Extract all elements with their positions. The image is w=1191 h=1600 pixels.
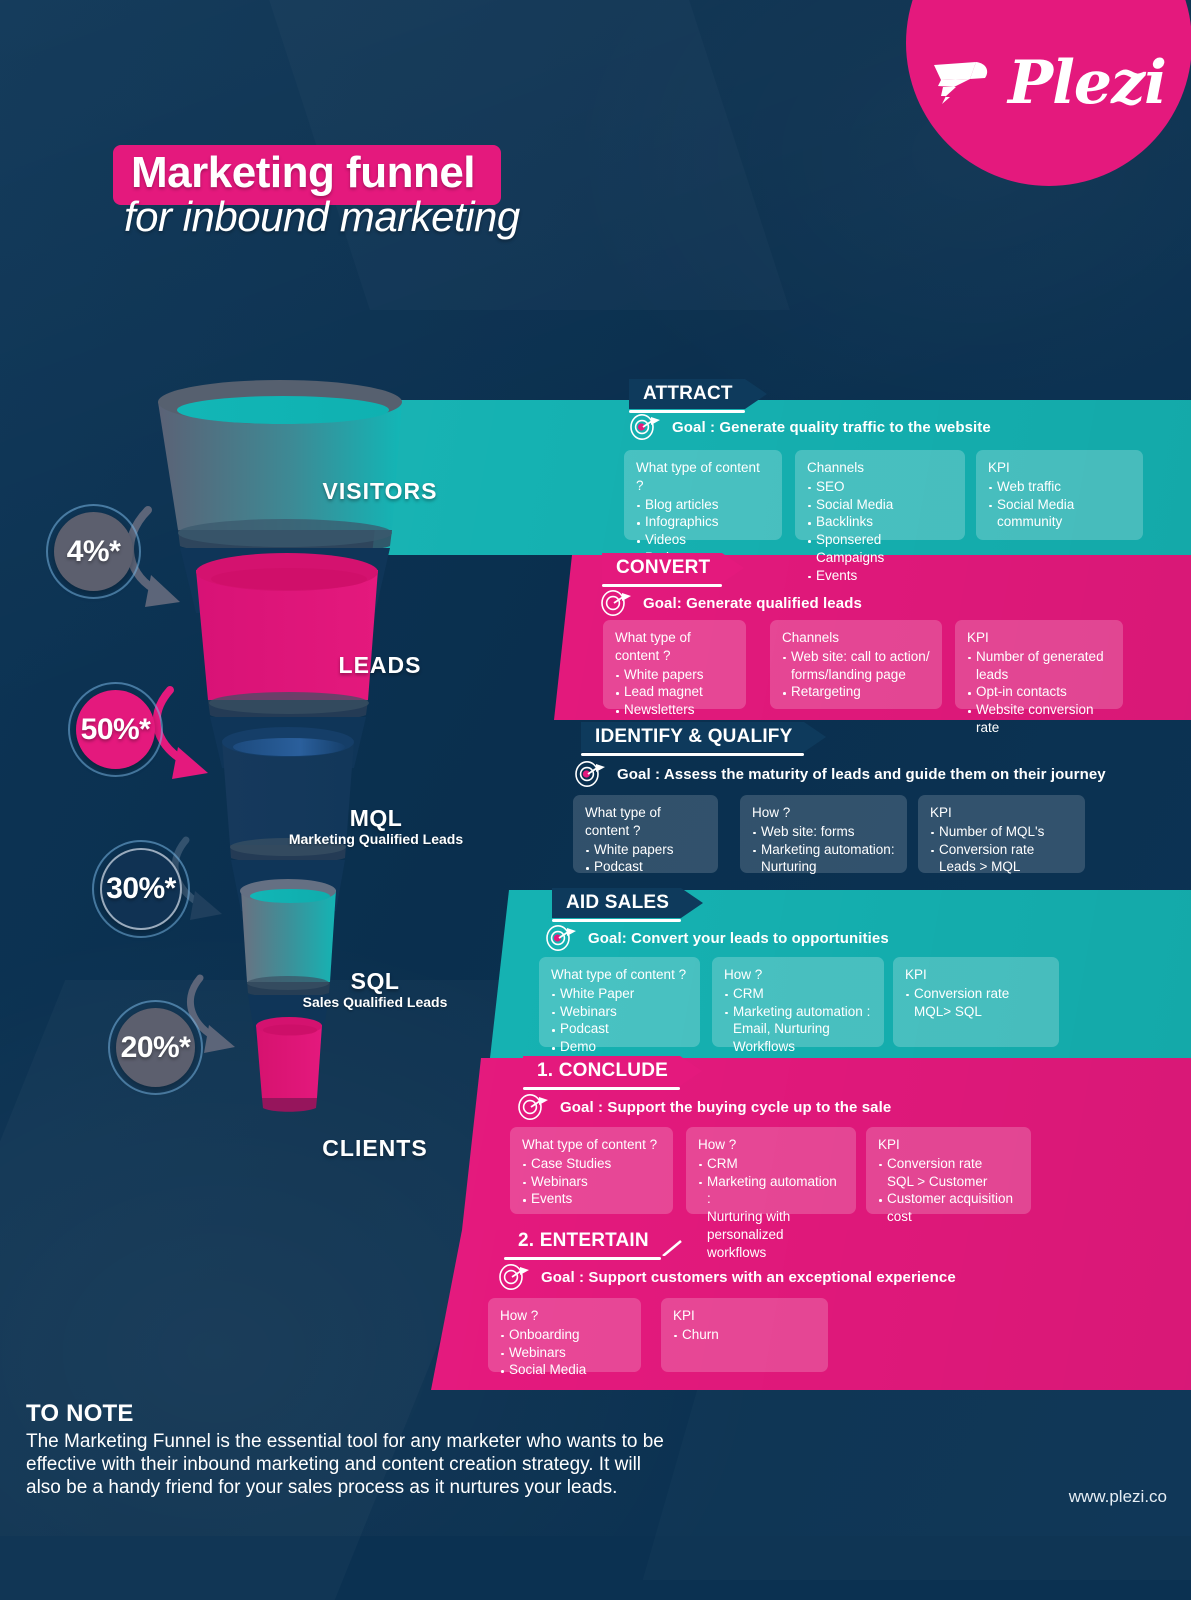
conversion-badge-leads-mql: 50%* bbox=[68, 682, 163, 777]
card-aid-sales-how: How ? CRMMarketing automation : Email, N… bbox=[712, 957, 884, 1047]
tab-chevron-icon bbox=[681, 888, 703, 918]
funnel-stage-mql: MQL Marketing Qualified Leads bbox=[200, 805, 552, 847]
tab-convert-label: CONVERT bbox=[616, 557, 710, 579]
card-entertain-how: How ? OnboardingWebinarsSocial Media bbox=[488, 1298, 641, 1372]
brand-name: Plezi bbox=[1008, 53, 1166, 113]
tab-convert[interactable]: CONVERT bbox=[602, 553, 744, 583]
card-list-item: Number of MQL's bbox=[930, 823, 1073, 841]
card-list-item: Case Studies bbox=[522, 1155, 661, 1173]
tab-conclude-label: 1. CONCLUDE bbox=[537, 1060, 668, 1082]
card-list: Number of MQL'sConversion rate Leads > M… bbox=[930, 823, 1073, 876]
card-list: CRMMarketing automation : Nurturing with… bbox=[698, 1155, 844, 1262]
card-list-item: CRM bbox=[698, 1155, 844, 1173]
to-note-title: TO NOTE bbox=[26, 1400, 666, 1428]
card-list-item: Social Media bbox=[500, 1361, 629, 1379]
to-note-block: TO NOTE The Marketing Funnel is the esse… bbox=[26, 1400, 666, 1500]
tab-attract[interactable]: ATTRACT bbox=[629, 379, 767, 409]
card-conclude-how: How ? CRMMarketing automation : Nurturin… bbox=[686, 1127, 856, 1214]
card-list-item: Webinars bbox=[551, 1003, 688, 1021]
card-title: KPI bbox=[988, 459, 1131, 477]
target-goal-icon bbox=[575, 761, 607, 787]
conversion-value: 30%* bbox=[106, 872, 176, 906]
card-title: How ? bbox=[752, 804, 895, 822]
card-list-item: White papers bbox=[615, 666, 734, 684]
card-list-item: Blog articles bbox=[636, 496, 770, 514]
card-convert-content: What type of content ? White papersLead … bbox=[603, 620, 746, 709]
goal-identify-qualify: Goal : Assess the maturity of leads and … bbox=[575, 761, 1106, 787]
badge-disc: 4%* bbox=[54, 512, 133, 591]
tab-aid-sales[interactable]: AID SALES bbox=[552, 888, 703, 918]
card-convert-kpi: KPI Number of generated leadsOpt-in cont… bbox=[955, 620, 1123, 709]
card-title: Channels bbox=[782, 629, 930, 647]
card-list-item: Web traffic bbox=[988, 478, 1131, 496]
goal-conclude-text: Goal : Support the buying cycle up to th… bbox=[560, 1099, 891, 1116]
tab-attract-label: ATTRACT bbox=[643, 383, 733, 405]
card-title: How ? bbox=[724, 966, 872, 984]
card-title: How ? bbox=[500, 1307, 629, 1325]
target-goal-icon bbox=[630, 414, 662, 440]
card-list-item: Marketing automation : Nurturing with pe… bbox=[698, 1173, 844, 1262]
card-list-item: Marketing automation : Email, Nurturing … bbox=[724, 1003, 872, 1056]
card-list: Web trafficSocial Media community bbox=[988, 478, 1131, 531]
tab-chevron-icon bbox=[804, 722, 826, 752]
card-list: White PaperWebinarsPodcastDemo bbox=[551, 985, 688, 1056]
conversion-value: 20%* bbox=[121, 1031, 191, 1065]
card-list-item: Number of generated leads bbox=[967, 648, 1111, 684]
page-subtitle: for inbound marketing bbox=[124, 193, 520, 241]
card-list-item: Backlinks bbox=[807, 513, 953, 531]
goal-entertain-text: Goal : Support customers with an excepti… bbox=[541, 1269, 956, 1286]
card-title: KPI bbox=[673, 1307, 816, 1325]
card-title: What type of content ? bbox=[522, 1136, 661, 1154]
card-list-item: Opt-in contacts bbox=[967, 683, 1111, 701]
funnel-stage-sql: SQL Sales Qualified Leads bbox=[215, 968, 535, 1010]
goal-identify-qualify-text: Goal : Assess the maturity of leads and … bbox=[617, 766, 1106, 783]
plezi-bird-icon bbox=[930, 53, 1002, 113]
card-list-item: Conversion rate Leads > MQL bbox=[930, 841, 1073, 877]
target-goal-icon bbox=[518, 1094, 550, 1120]
card-title: KPI bbox=[878, 1136, 1019, 1154]
card-title: What type of content ? bbox=[636, 459, 770, 495]
funnel-stage-label: MQL bbox=[200, 805, 552, 832]
card-list: Case StudiesWebinarsEvents bbox=[522, 1155, 661, 1208]
card-conclude-kpi: KPI Conversion rate SQL > CustomerCustom… bbox=[866, 1127, 1031, 1214]
card-list-item: Retargeting bbox=[782, 683, 930, 701]
card-list-item: Website conversion rate bbox=[967, 701, 1111, 737]
card-list: CRMMarketing automation : Email, Nurturi… bbox=[724, 985, 872, 1056]
tab-chevron-icon bbox=[722, 553, 744, 583]
card-list-item: Infographics bbox=[636, 513, 770, 531]
funnel-stage-clients: CLIENTS bbox=[230, 1135, 520, 1162]
card-title: KPI bbox=[930, 804, 1073, 822]
card-list-item: Conversion rate MQL> SQL bbox=[905, 985, 1047, 1021]
card-aid-sales-kpi: KPI Conversion rate MQL> SQL bbox=[893, 957, 1059, 1047]
card-identify-content: What type of content ? White papersPodca… bbox=[573, 795, 718, 873]
badge-disc: 20%* bbox=[116, 1008, 195, 1087]
conversion-badge-mql-sql: 30%* bbox=[92, 840, 190, 938]
tab-identify-qualify[interactable]: IDENTIFY & QUALIFY bbox=[581, 722, 826, 752]
page-title-text: Marketing funnel bbox=[131, 148, 475, 197]
funnel-stage-leads: LEADS bbox=[190, 652, 570, 679]
card-convert-channels: Channels Web site: call to action/ forms… bbox=[770, 620, 942, 709]
card-list: White papersLead magnetNewsletters bbox=[615, 666, 734, 719]
card-list: Conversion rate SQL > CustomerCustomer a… bbox=[878, 1155, 1019, 1226]
card-list-item: Webinars bbox=[522, 1173, 661, 1191]
card-list: SEOSocial MediaBacklinksSponsered Campai… bbox=[807, 478, 953, 585]
funnel-stage-sublabel: Marketing Qualified Leads bbox=[200, 831, 552, 847]
card-attract-channels: Channels SEOSocial MediaBacklinksSponser… bbox=[795, 450, 965, 540]
goal-aid-sales-text: Goal: Convert your leads to opportunitie… bbox=[588, 930, 889, 947]
card-attract-content: What type of content ? Blog articlesInfo… bbox=[624, 450, 782, 540]
tab-chevron-icon bbox=[680, 1056, 702, 1086]
tab-aid-sales-label: AID SALES bbox=[566, 892, 669, 914]
card-attract-kpi: KPI Web trafficSocial Media community bbox=[976, 450, 1143, 540]
card-list-item: Events bbox=[807, 567, 953, 585]
card-list-item: Podcast bbox=[585, 858, 706, 876]
tab-entertain-label: 2. ENTERTAIN bbox=[518, 1230, 649, 1252]
card-title: KPI bbox=[967, 629, 1111, 647]
tab-identify-qualify-label: IDENTIFY & QUALIFY bbox=[595, 726, 792, 748]
card-list-item: Social Media bbox=[807, 496, 953, 514]
tab-conclude[interactable]: 1. CONCLUDE bbox=[523, 1056, 702, 1086]
card-list-item: Web site: forms bbox=[752, 823, 895, 841]
conversion-badge-sql-clients: 20%* bbox=[108, 1000, 203, 1095]
funnel-stage-label: CLIENTS bbox=[230, 1135, 520, 1162]
conversion-badge-visitors-leads: 4%* bbox=[46, 504, 141, 599]
card-list-item: Lead magnet bbox=[615, 683, 734, 701]
card-list-item: SEO bbox=[807, 478, 953, 496]
card-conclude-content: What type of content ? Case StudiesWebin… bbox=[510, 1127, 673, 1214]
card-list-item: CRM bbox=[724, 985, 872, 1003]
card-list-item: Videos bbox=[636, 531, 770, 549]
badge-disc: 30%* bbox=[100, 848, 182, 930]
badge-disc: 50%* bbox=[76, 690, 155, 769]
tab-chevron-icon bbox=[661, 1226, 683, 1256]
brand-logo: Plezi bbox=[930, 38, 1175, 128]
goal-attract-text: Goal : Generate quality traffic to the w… bbox=[672, 419, 991, 436]
funnel-stage-label: LEADS bbox=[190, 652, 570, 679]
to-note-body: The Marketing Funnel is the essential to… bbox=[26, 1430, 666, 1500]
card-identify-kpi: KPI Number of MQL'sConversion rate Leads… bbox=[918, 795, 1085, 873]
card-list: Web site: formsMarketing automation: Nur… bbox=[752, 823, 895, 876]
card-list-item: White papers bbox=[585, 841, 706, 859]
target-goal-icon bbox=[499, 1264, 531, 1290]
card-list-item: Podcast bbox=[551, 1020, 688, 1038]
card-title: What type of content ? bbox=[615, 629, 734, 665]
funnel-stage-visitors: VISITORS bbox=[180, 478, 580, 505]
card-list-item: Newsletters bbox=[615, 701, 734, 719]
tab-chevron-icon bbox=[745, 379, 767, 409]
card-title: What type of content ? bbox=[585, 804, 706, 840]
goal-entertain: Goal : Support customers with an excepti… bbox=[499, 1264, 956, 1290]
goal-convert-text: Goal: Generate qualified leads bbox=[643, 595, 862, 612]
card-list: White papersPodcast bbox=[585, 841, 706, 877]
conversion-value: 50%* bbox=[81, 713, 151, 747]
funnel-stage-label: VISITORS bbox=[180, 478, 580, 505]
card-list: OnboardingWebinarsSocial Media bbox=[500, 1326, 629, 1379]
card-list-item: Webinars bbox=[500, 1344, 629, 1362]
goal-convert: Goal: Generate qualified leads bbox=[601, 590, 862, 616]
target-goal-icon bbox=[601, 590, 633, 616]
card-list: Number of generated leadsOpt-in contacts… bbox=[967, 648, 1111, 737]
card-title: How ? bbox=[698, 1136, 844, 1154]
card-list-item: Onboarding bbox=[500, 1326, 629, 1344]
card-list: Churn bbox=[673, 1326, 816, 1344]
target-goal-icon bbox=[546, 925, 578, 951]
card-list-item: White Paper bbox=[551, 985, 688, 1003]
card-list-item: Events bbox=[522, 1190, 661, 1208]
card-list-item: Marketing automation: Nurturing bbox=[752, 841, 895, 877]
tab-entertain[interactable]: 2. ENTERTAIN bbox=[504, 1226, 683, 1256]
card-list-item: Customer acquisition cost bbox=[878, 1190, 1019, 1226]
card-title: Channels bbox=[807, 459, 953, 477]
card-list-item: Sponsered Campaigns bbox=[807, 531, 953, 567]
card-list: Web site: call to action/ forms/landing … bbox=[782, 648, 930, 701]
goal-aid-sales: Goal: Convert your leads to opportunitie… bbox=[546, 925, 889, 951]
card-list-item: Demo bbox=[551, 1038, 688, 1056]
card-list-item: Churn bbox=[673, 1326, 816, 1344]
website-url[interactable]: www.plezi.co bbox=[1069, 1487, 1167, 1507]
funnel-stage-label: SQL bbox=[215, 968, 535, 995]
card-title: What type of content ? bbox=[551, 966, 688, 984]
card-entertain-kpi: KPI Churn bbox=[661, 1298, 828, 1372]
card-list-item: Conversion rate SQL > Customer bbox=[878, 1155, 1019, 1191]
card-identify-how: How ? Web site: formsMarketing automatio… bbox=[740, 795, 907, 873]
card-title: KPI bbox=[905, 966, 1047, 984]
goal-attract: Goal : Generate quality traffic to the w… bbox=[630, 414, 991, 440]
funnel-stage-sublabel: Sales Qualified Leads bbox=[215, 994, 535, 1010]
conversion-value: 4%* bbox=[67, 535, 121, 569]
card-list-item: Web site: call to action/ forms/landing … bbox=[782, 648, 930, 684]
goal-conclude: Goal : Support the buying cycle up to th… bbox=[518, 1094, 891, 1120]
card-list: Conversion rate MQL> SQL bbox=[905, 985, 1047, 1021]
card-aid-sales-content: What type of content ? White PaperWebina… bbox=[539, 957, 700, 1047]
card-list-item: Social Media community bbox=[988, 496, 1131, 532]
